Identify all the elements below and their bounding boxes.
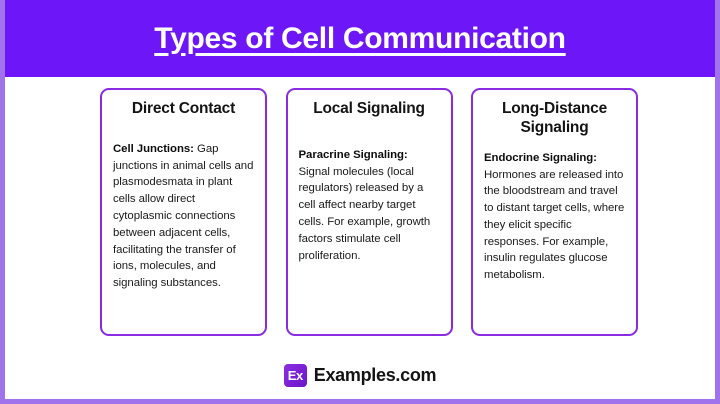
card-body: Cell Junctions: Gap junctions in animal … xyxy=(113,141,254,292)
card-title: Long-Distance Signaling xyxy=(484,100,625,138)
card-description: Hormones are released into the bloodstre… xyxy=(484,169,624,282)
cards-row: Direct Contact Cell Junctions: Gap junct… xyxy=(100,88,638,336)
card-local-signaling: Local Signaling Paracrine Signaling: Sig… xyxy=(286,88,453,336)
card-lead-label: Paracrine Signaling: xyxy=(299,149,408,161)
infographic-canvas: Types of Cell Communication Direct Conta… xyxy=(0,0,720,404)
card-body: Paracrine Signaling: Signal molecules (l… xyxy=(299,147,440,264)
card-lead-label: Cell Junctions: xyxy=(113,143,194,155)
card-body: Endocrine Signaling: Hormones are releas… xyxy=(484,150,625,284)
card-lead-label: Endocrine Signaling: xyxy=(484,152,597,164)
card-long-distance-signaling: Long-Distance Signaling Endocrine Signal… xyxy=(471,88,638,336)
header-banner: Types of Cell Communication xyxy=(0,0,720,77)
card-description: Gap junctions in animal cells and plasmo… xyxy=(113,143,253,289)
card-title: Direct Contact xyxy=(113,100,254,119)
card-direct-contact: Direct Contact Cell Junctions: Gap junct… xyxy=(100,88,267,336)
page-title: Types of Cell Communication xyxy=(154,22,565,56)
card-title: Local Signaling xyxy=(299,100,440,119)
brand-name: Examples.com xyxy=(314,365,436,386)
card-description: Signal molecules (local regulators) rele… xyxy=(299,166,431,262)
footer-brand: Ex Examples.com xyxy=(5,358,715,392)
examples-logo-icon: Ex xyxy=(284,364,307,387)
